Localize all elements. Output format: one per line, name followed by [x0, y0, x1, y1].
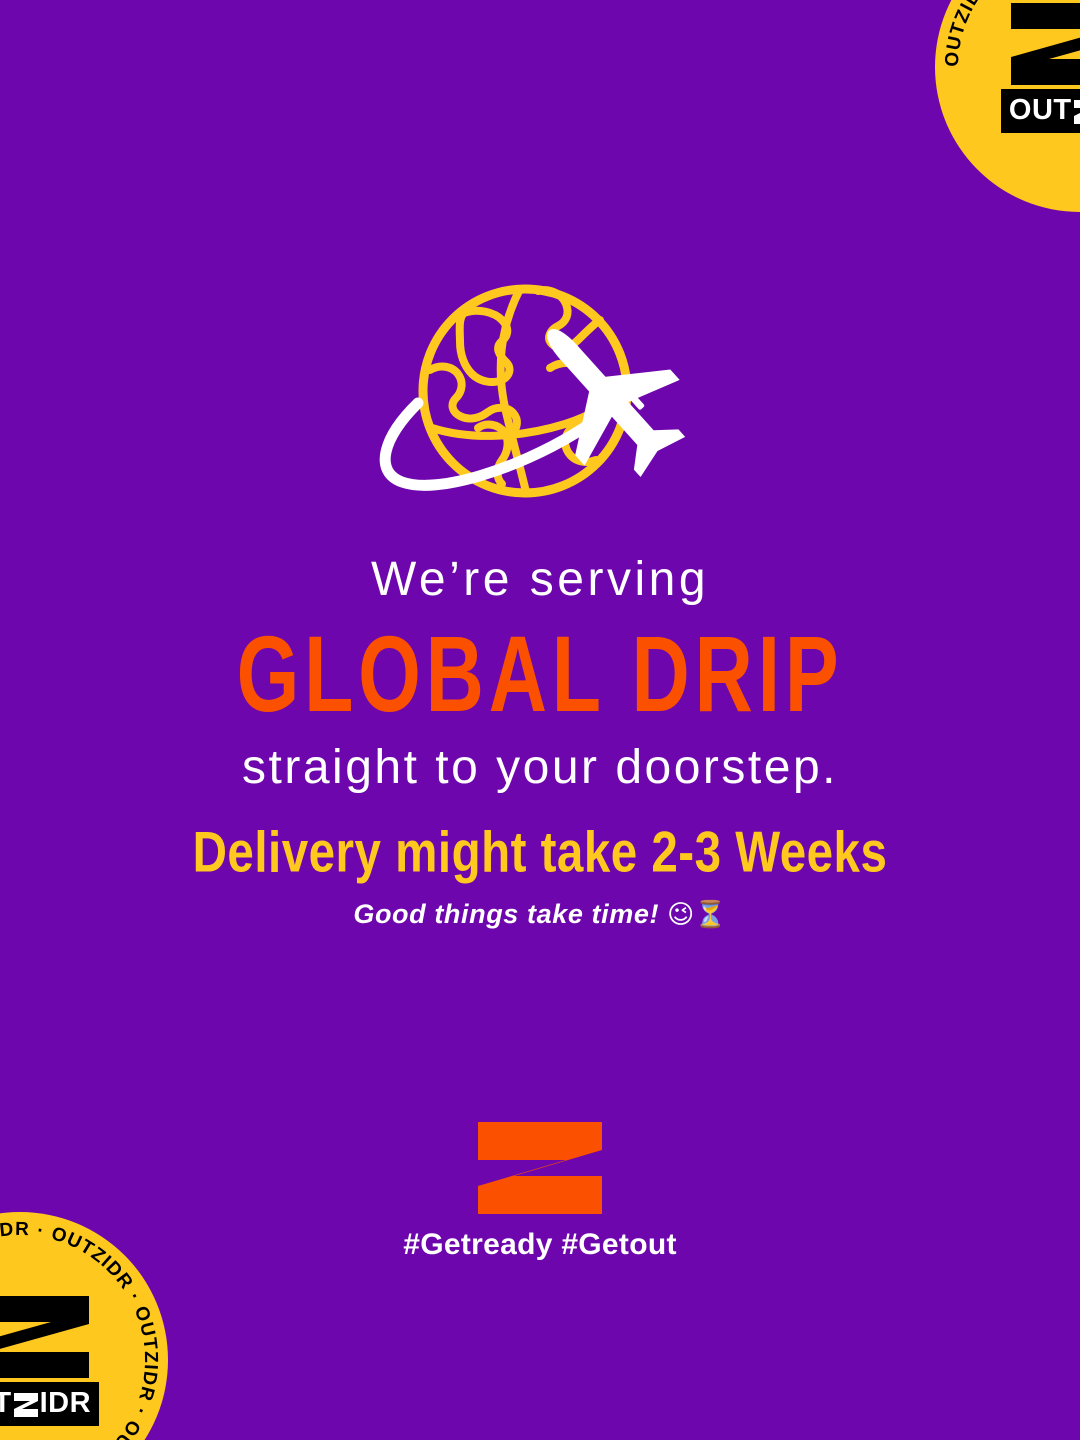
delivery-block: Delivery might take 2-3 Weeks Good thing…: [0, 822, 1080, 931]
headline-block: We’re serving GLOBAL DRIP straight to yo…: [0, 552, 1080, 797]
z-logo-icon-footer: [478, 1122, 602, 1214]
wink-hourglass-emoji: 😉⏳: [667, 900, 726, 930]
delivery-headline: Delivery might take 2-3 Weeks: [16, 822, 1064, 886]
delivery-subtext: Good things take time!: [353, 899, 659, 929]
badge-wordmark-top-right: OUT IDR: [1001, 89, 1080, 133]
globe-airplane-illustration: [360, 278, 710, 510]
headline-line-2: GLOBAL DRIP: [22, 615, 1059, 733]
badge-core-top-right: OUT IDR: [996, 1, 1080, 133]
badge-wordmark-prefix: OUT: [1009, 96, 1072, 125]
headline-line-1: We’re serving: [0, 552, 1080, 609]
badge-wordmark-bottom-left: OUT IDR: [0, 1382, 99, 1426]
footer-hashtags: #Getready #Getout: [403, 1228, 677, 1261]
z-slash-icon: [1073, 99, 1080, 125]
badge-wordmark-suffix: IDR: [40, 1389, 91, 1418]
z-slash-icon: [13, 1392, 39, 1418]
headline-line-3: straight to your doorstep.: [0, 740, 1080, 797]
badge-core-bottom-left: OUT IDR: [0, 1294, 104, 1426]
badge-bottom-left: OUTZIDR · OUTZIDR · OUTZIDR · OUTZIDR · …: [0, 1212, 168, 1440]
badge-top-right: OUTZIDR · OUTZIDR · OUTZIDR · OUTZIDR · …: [935, 0, 1080, 212]
airplane-icon: [502, 288, 710, 500]
z-logo-icon: [0, 1294, 95, 1380]
z-logo-icon: [1005, 1, 1080, 87]
delivery-subtext-row: Good things take time! 😉⏳: [0, 898, 1080, 931]
poster-canvas: OUTZIDR · OUTZIDR · OUTZIDR · OUTZIDR · …: [0, 0, 1080, 1440]
badge-wordmark-prefix: OUT: [0, 1389, 12, 1418]
